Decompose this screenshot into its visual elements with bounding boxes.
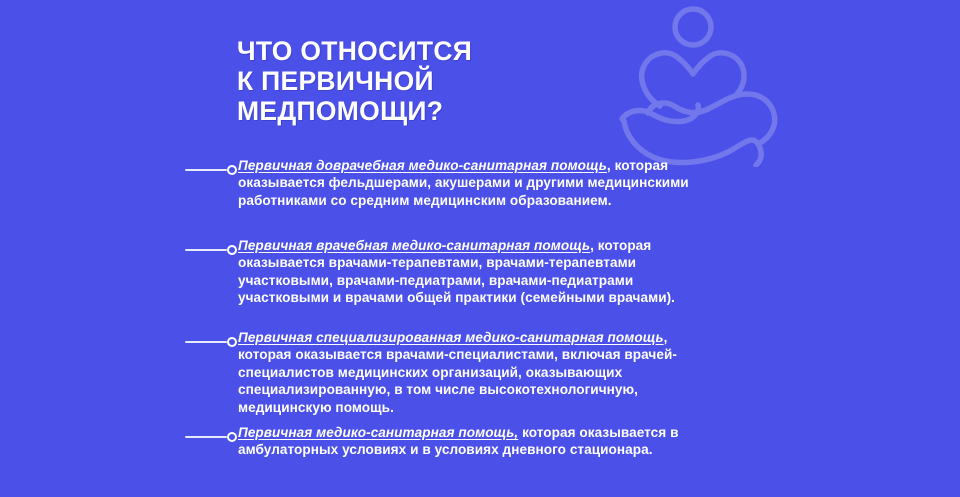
list-item: Первичная доврачебная медико-санитарная … — [185, 157, 705, 209]
bullet-ring-icon — [227, 432, 237, 442]
list-item-lead: Первичная врачебная медико-санитарная по… — [238, 238, 590, 253]
list-item-text: Первичная специализированная медико-сани… — [238, 329, 705, 416]
list-item-lead: Первичная доврачебная медико-санитарная … — [238, 158, 607, 173]
bullet-marker-icon — [185, 165, 235, 174]
bullet-line — [185, 249, 227, 251]
list-item-text: Первичная врачебная медико-санитарная по… — [238, 237, 705, 307]
list-item: Первичная врачебная медико-санитарная по… — [185, 237, 705, 307]
bullet-list: Первичная доврачебная медико-санитарная … — [0, 0, 960, 497]
list-item-text: Первичная доврачебная медико-санитарная … — [238, 157, 705, 209]
bullet-marker-icon — [185, 245, 235, 254]
bullet-line — [185, 169, 227, 171]
slide-canvas: ЧТО ОТНОСИТСЯ К ПЕРВИЧНОЙ МЕДПОМОЩИ? Пер… — [0, 0, 960, 497]
bullet-marker-icon — [185, 337, 235, 346]
bullet-ring-icon — [227, 245, 237, 255]
list-item-lead: Первичная медико-санитарная помощь, — [238, 425, 518, 440]
bullet-ring-icon — [227, 337, 237, 347]
list-item-text: Первичная медико-санитарная помощь, кото… — [238, 424, 705, 459]
bullet-ring-icon — [227, 165, 237, 175]
list-item: Первичная медико-санитарная помощь, кото… — [185, 424, 705, 459]
bullet-line — [185, 436, 227, 438]
bullet-line — [185, 341, 227, 343]
list-item: Первичная специализированная медико-сани… — [185, 329, 705, 416]
bullet-marker-icon — [185, 432, 235, 441]
list-item-lead: Первичная специализированная медико-сани… — [238, 330, 664, 345]
